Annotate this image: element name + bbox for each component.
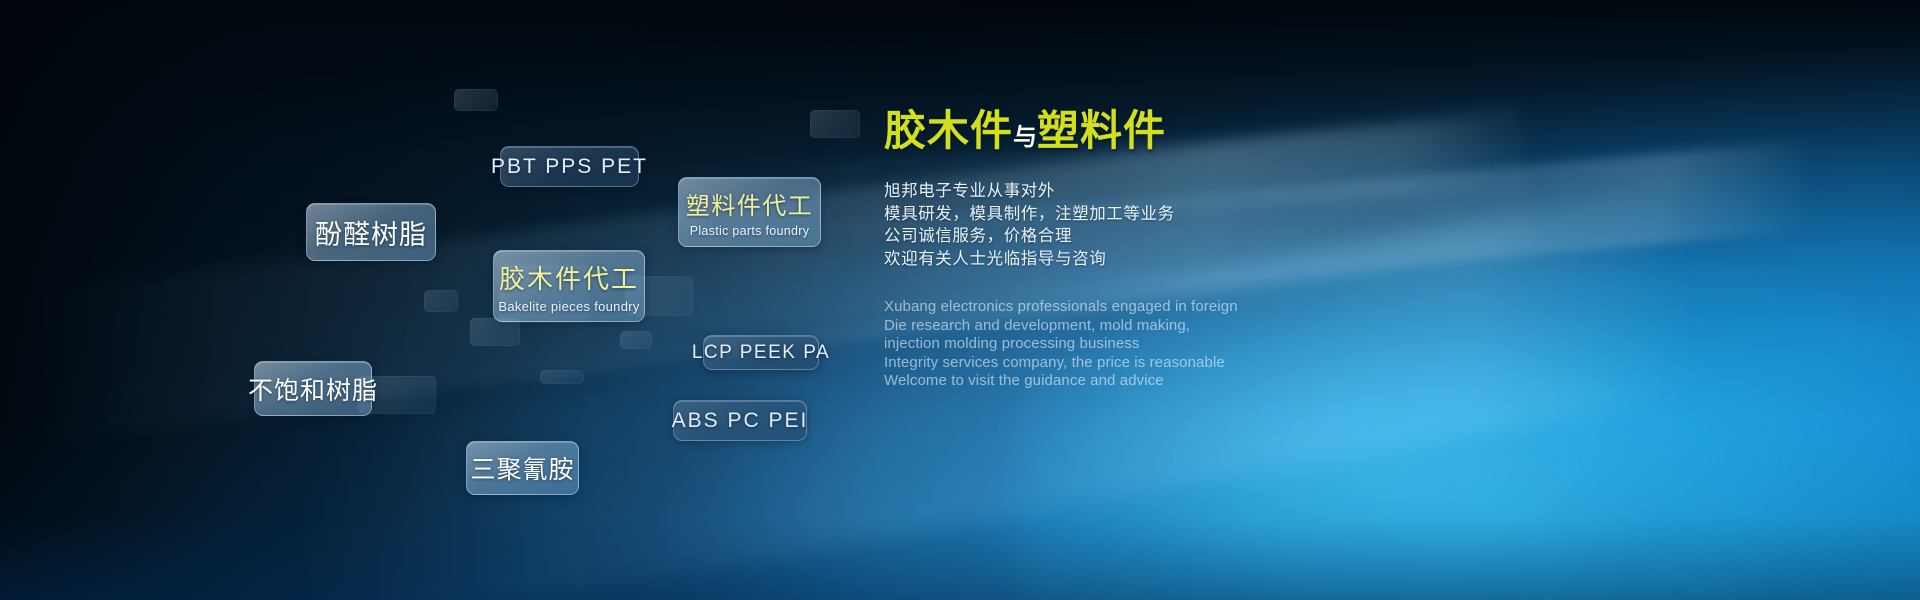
promo-banner: 酚醛树脂 不饱和树脂 三聚氰胺 胶木件代工 Bakelite pieces fo…: [0, 0, 1920, 600]
english-line: Integrity services company, the price is…: [884, 354, 1584, 373]
card-chip-pbt-pps-pet[interactable]: PBT PPS PET: [500, 146, 639, 187]
card-title: 三聚氰胺: [470, 450, 574, 486]
headline-conjunction: 与: [1013, 124, 1037, 151]
card-bakelite-foundry[interactable]: 胶木件代工 Bakelite pieces foundry: [493, 250, 645, 322]
chinese-line: 模具研发，模具制作，注塑加工等业务: [884, 203, 1584, 226]
card-title: LCP PEEK PA: [692, 342, 830, 364]
card-melamine[interactable]: 三聚氰胺: [466, 441, 579, 495]
card-title: 不饱和树脂: [248, 371, 378, 407]
card-title: 塑料件代工: [686, 186, 814, 221]
headline-part1: 胶木件: [884, 107, 1013, 154]
card-unsaturated-resin[interactable]: 不饱和树脂: [254, 361, 372, 416]
card-subtitle: Plastic parts foundry: [690, 224, 810, 238]
english-line: Xubang electronics professionals engaged…: [884, 298, 1584, 317]
chinese-line: 欢迎有关人士光临指导与咨询: [884, 248, 1584, 271]
chinese-line: 公司诚信服务，价格合理: [884, 225, 1584, 248]
card-title: PBT PPS PET: [491, 155, 648, 179]
card-chip-abs-pc-pei[interactable]: ABS PC PEI: [673, 400, 807, 441]
card-title: 胶木件代工: [499, 259, 639, 296]
page-title: 胶木件与塑料件: [884, 110, 1584, 152]
chinese-line: 旭邦电子专业从事对外: [884, 180, 1584, 203]
headline-part2: 塑料件: [1037, 107, 1166, 154]
card-phenolic-resin[interactable]: 酚醛树脂: [306, 203, 436, 261]
card-chip-lcp-peek-pa[interactable]: LCP PEEK PA: [703, 335, 819, 370]
card-subtitle: Bakelite pieces foundry: [498, 299, 639, 314]
card-title: ABS PC PEI: [672, 409, 809, 433]
card-title: 酚醛树脂: [315, 213, 427, 252]
english-description: Xubang electronics professionals engaged…: [884, 298, 1584, 391]
card-plastic-foundry[interactable]: 塑料件代工 Plastic parts foundry: [678, 177, 821, 247]
chinese-description: 旭邦电子专业从事对外 模具研发，模具制作，注塑加工等业务 公司诚信服务，价格合理…: [884, 180, 1584, 270]
english-line: Welcome to visit the guidance and advice: [884, 372, 1584, 391]
english-line: Die research and development, mold makin…: [884, 317, 1584, 336]
english-line: injection molding processing business: [884, 335, 1584, 354]
text-panel: 胶木件与塑料件 旭邦电子专业从事对外 模具研发，模具制作，注塑加工等业务 公司诚…: [884, 110, 1584, 391]
